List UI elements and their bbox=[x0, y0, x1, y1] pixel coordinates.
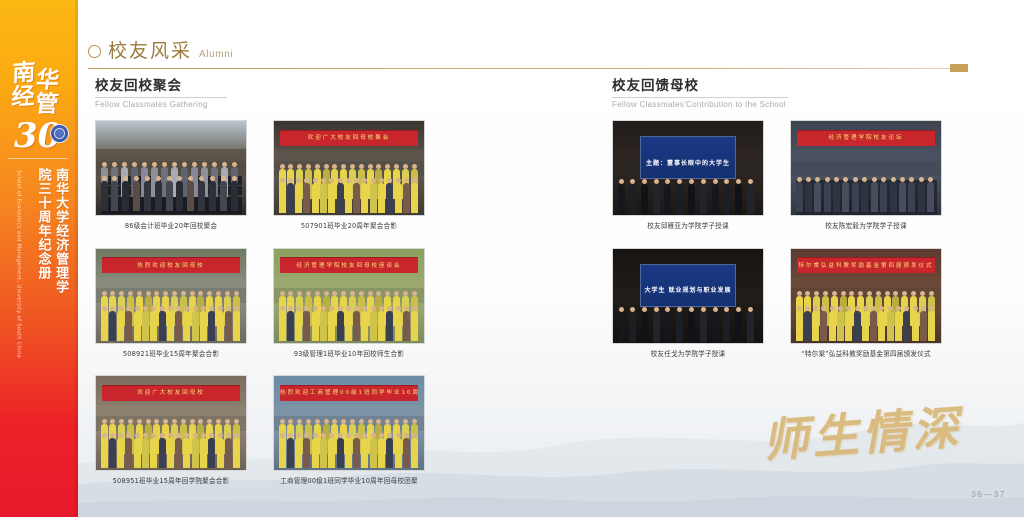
section-rule bbox=[612, 97, 788, 98]
school-logo: 南华经管 30 bbox=[4, 58, 74, 178]
photo-banner: 欢迎广大校友回母校 bbox=[102, 385, 240, 401]
photo-caption: 校友陈宏毅为学院学子授课 bbox=[790, 222, 942, 231]
section-rule bbox=[95, 97, 227, 98]
row-spacer bbox=[95, 358, 435, 375]
photo-cell: 大学生 就业规划与职业发展校友任戈为学院学子授课 bbox=[612, 248, 764, 359]
photo-cell: 欢迎广大校友回母校聚会507901班毕业20周年聚会合影 bbox=[273, 120, 425, 231]
photo-thumbnail bbox=[95, 120, 247, 216]
photo-thumbnail: 经济管理学院校友回母校座谈会 bbox=[273, 248, 425, 344]
photo-grid: 主题：董事长眼中的大学生校友邱雁亚为学院学子授课经济管理学院校友论坛校友陈宏毅为… bbox=[612, 120, 952, 375]
calligraphy-text: 师生情深 bbox=[760, 391, 964, 471]
photo-caption: 工商管理00级1班同学毕业10周年回母校团聚 bbox=[273, 477, 425, 486]
photo-caption: 校友任戈为学院学子授课 bbox=[612, 350, 764, 359]
section-title: 校友回馈母校 bbox=[612, 78, 952, 94]
section-title-en: Fellow Classmates'Contribution to the Sc… bbox=[612, 100, 952, 109]
photo-thumbnail: 大学生 就业规划与职业发展 bbox=[612, 248, 764, 344]
photo-cell: 主题：董事长眼中的大学生校友邱雁亚为学院学子授课 bbox=[612, 120, 764, 231]
photo-grid: 86级会计班毕业20年回校聚会欢迎广大校友回母校聚会507901班毕业20周年聚… bbox=[95, 120, 435, 503]
spine-vertical-title: 南华大学经济管理学院三十周年纪念册 bbox=[34, 168, 69, 298]
photo-thumbnail: 热烈欢迎工商管理00级1班同学毕业10周年回母校 bbox=[273, 375, 425, 471]
photo-caption: 校友邱雁亚为学院学子授课 bbox=[612, 222, 764, 231]
photo-thumbnail: 特尔棠弘益科教奖励基金第四届颁发仪式 bbox=[790, 248, 942, 344]
photo-banner: 经济管理学院校友回母校座谈会 bbox=[280, 257, 418, 273]
photo-thumbnail: 主题：董事长眼中的大学生 bbox=[612, 120, 764, 216]
photo-banner: 热烈欢迎校友回母校 bbox=[102, 257, 240, 273]
section-alumni-gathering: 校友回校聚会 Fellow Classmates Gathering 86级会计… bbox=[95, 78, 435, 503]
photo-caption: 93级管理1班毕业10年回校师生合影 bbox=[273, 350, 425, 359]
spine-vertical-title-en: School of Economics and Management, Univ… bbox=[14, 170, 22, 290]
photo-caption: “特尔棠”弘益科教奖励基金第四届颁发仪式 bbox=[790, 350, 942, 359]
logo-chinese-text: 南华经管 bbox=[11, 58, 73, 110]
page-title-en: Alumni bbox=[199, 49, 233, 60]
brochure-page: 南华经管 30 南华大学经济管理学院三十周年纪念册 School of Econ… bbox=[0, 0, 1024, 517]
ring-icon bbox=[88, 45, 101, 58]
row-spacer bbox=[95, 231, 435, 248]
row-spacer bbox=[612, 358, 952, 375]
photo-thumbnail: 欢迎广大校友回母校聚会 bbox=[273, 120, 425, 216]
row-spacer bbox=[95, 486, 435, 503]
header-rule bbox=[88, 68, 968, 69]
photo-cell: 欢迎广大校友回母校508951班毕业15周年回学院聚会合影 bbox=[95, 375, 247, 486]
photo-cell: 热烈欢迎工商管理00级1班同学毕业10周年回母校工商管理00级1班同学毕业10周… bbox=[273, 375, 425, 486]
university-seal-icon bbox=[50, 124, 69, 143]
photo-thumbnail: 欢迎广大校友回母校 bbox=[95, 375, 247, 471]
photo-banner: 欢迎广大校友回母校聚会 bbox=[280, 130, 418, 146]
row-spacer bbox=[612, 231, 952, 248]
photo-thumbnail: 经济管理学院校友论坛 bbox=[790, 120, 942, 216]
section-alumni-contribution: 校友回馈母校 Fellow Classmates'Contribution to… bbox=[612, 78, 952, 375]
section-title-en: Fellow Classmates Gathering bbox=[95, 100, 435, 109]
photo-caption: 508951班毕业15周年回学院聚会合影 bbox=[95, 477, 247, 486]
page-number: 36—37 bbox=[971, 489, 1006, 499]
photo-thumbnail: 热烈欢迎校友回母校 bbox=[95, 248, 247, 344]
photo-cell: 特尔棠弘益科教奖励基金第四届颁发仪式“特尔棠”弘益科教奖励基金第四届颁发仪式 bbox=[790, 248, 942, 359]
page-title: 校友风采 bbox=[108, 36, 192, 63]
page-header: 校友风采 Alumni bbox=[88, 36, 968, 69]
photo-cell: 热烈欢迎校友回母校508921班毕业15周年聚会合影 bbox=[95, 248, 247, 359]
cover-spine: 南华经管 30 南华大学经济管理学院三十周年纪念册 School of Econ… bbox=[0, 0, 78, 517]
photo-banner: 热烈欢迎工商管理00级1班同学毕业10周年回母校 bbox=[280, 385, 418, 401]
photo-caption: 507901班毕业20周年聚会合影 bbox=[273, 222, 425, 231]
photo-banner: 特尔棠弘益科教奖励基金第四届颁发仪式 bbox=[797, 257, 935, 273]
photo-cell: 86级会计班毕业20年回校聚会 bbox=[95, 120, 247, 231]
photo-banner: 经济管理学院校友论坛 bbox=[797, 130, 935, 146]
photo-caption: 86级会计班毕业20年回校聚会 bbox=[95, 222, 247, 231]
photo-cell: 经济管理学院校友论坛校友陈宏毅为学院学子授课 bbox=[790, 120, 942, 231]
photo-caption: 508921班毕业15周年聚会合影 bbox=[95, 350, 247, 359]
section-title: 校友回校聚会 bbox=[95, 78, 435, 94]
photo-cell: 经济管理学院校友回母校座谈会93级管理1班毕业10年回校师生合影 bbox=[273, 248, 425, 359]
